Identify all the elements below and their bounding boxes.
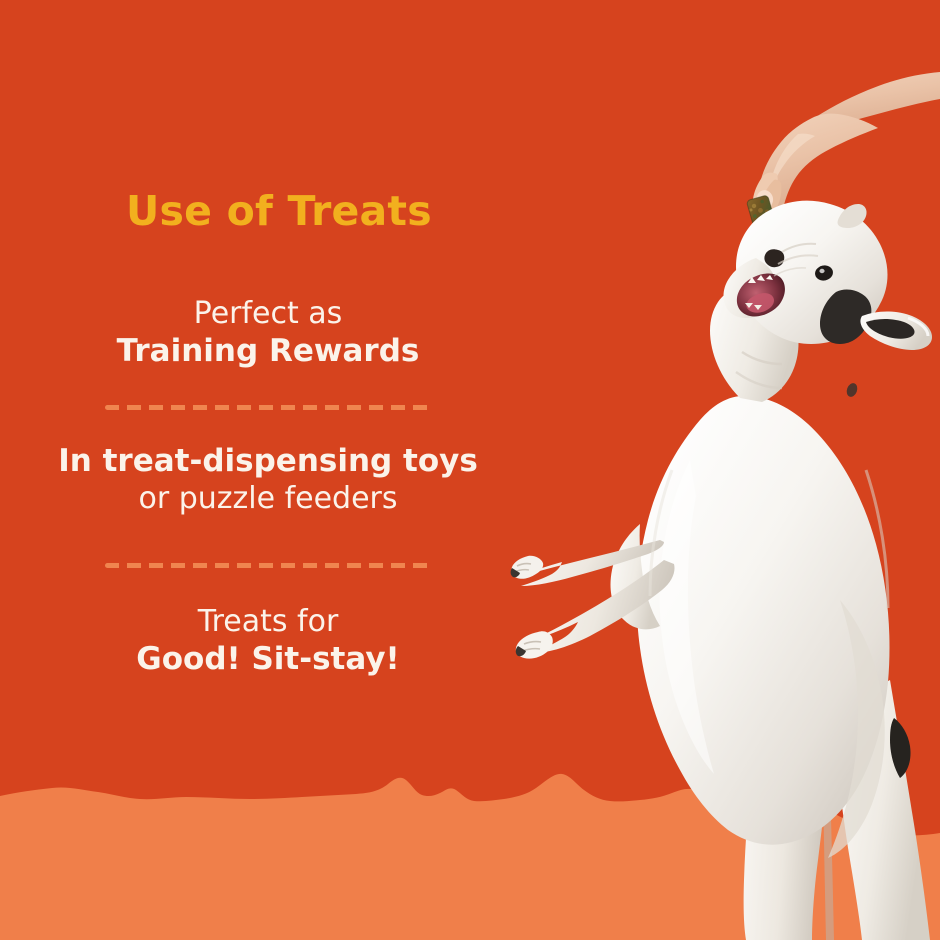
benefit-block-good-sit-stay: Treats for Good! Sit-stay! bbox=[0, 604, 536, 678]
text-column: Use of Treats Perfect as Training Reward… bbox=[0, 0, 536, 940]
benefit-block-dispensing-toys: In treat-dispensing toys or puzzle feede… bbox=[0, 443, 536, 517]
benefit-line-2: or puzzle feeders bbox=[0, 481, 536, 518]
dashed-divider-2 bbox=[105, 563, 433, 568]
benefit-block-training-rewards: Perfect as Training Rewards bbox=[0, 296, 536, 370]
benefit-line-1: Treats for bbox=[0, 604, 536, 641]
benefit-line-1: Perfect as bbox=[0, 296, 536, 333]
benefit-line-2: Good! Sit-stay! bbox=[0, 641, 536, 679]
benefit-line-1: In treat-dispensing toys bbox=[0, 443, 536, 481]
dashed-divider-1 bbox=[105, 405, 433, 410]
poster-canvas: Use of Treats Perfect as Training Reward… bbox=[0, 0, 940, 940]
benefit-line-2: Training Rewards bbox=[0, 333, 536, 371]
page-title: Use of Treats bbox=[126, 189, 432, 234]
